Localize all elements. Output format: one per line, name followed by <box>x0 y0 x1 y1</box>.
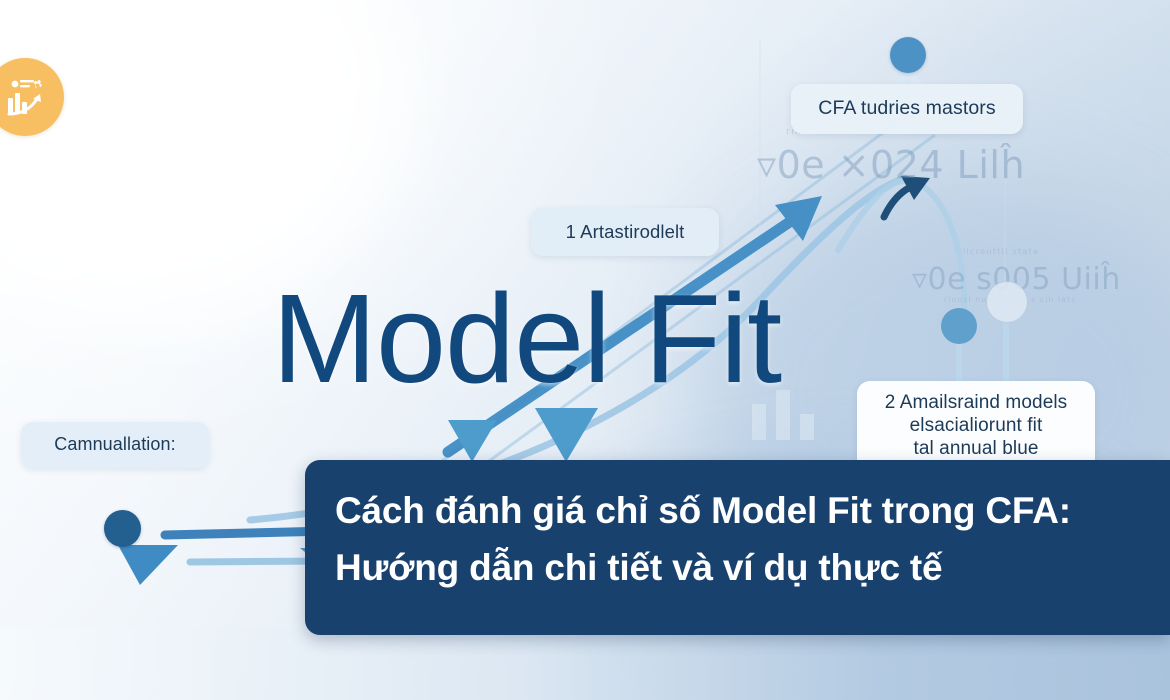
label-chip-step-one-text: 1 Artastirodlelt <box>566 221 685 244</box>
analytics-gear-icon <box>0 72 50 122</box>
label-chip-camnuallation: Camnuallation: <box>21 422 209 468</box>
label-chip-cfa: CFA tudries mastors <box>791 84 1023 134</box>
label-chip-camnuallation-text: Camnuallation: <box>54 434 175 456</box>
label-chip-step-two-line1: 2 Amailsraind models <box>865 391 1087 414</box>
label-chip-step-two-line2: elsacialiorunt fit <box>865 414 1087 437</box>
banner-line-2: Hướng dẫn chi tiết và ví dụ thực tế <box>335 539 1144 596</box>
title-banner: Cách đánh giá chỉ số Model Fit trong CFA… <box>305 460 1170 635</box>
banner-line-1: Cách đánh giá chỉ số Model Fit trong CFA… <box>335 482 1144 539</box>
node-ghost-circle <box>986 281 1028 323</box>
label-chip-step-two-lines: 2 Amailsraind models elsacialiorunt fit … <box>865 391 1087 461</box>
label-chip-step-one: 1 Artastirodlelt <box>531 208 719 256</box>
node-top-circle <box>890 37 926 73</box>
banner-graphic: rinoral it forls ▿0e ×024 Lilĥ iicroutti… <box>0 0 1170 700</box>
node-mid-circle <box>941 308 977 344</box>
page-title: Model Fit <box>272 276 781 402</box>
label-chip-step-two-line3: tal annual blue <box>865 437 1087 460</box>
label-chip-cfa-text: CFA tudries mastors <box>818 97 995 121</box>
node-left-circle <box>104 510 141 547</box>
